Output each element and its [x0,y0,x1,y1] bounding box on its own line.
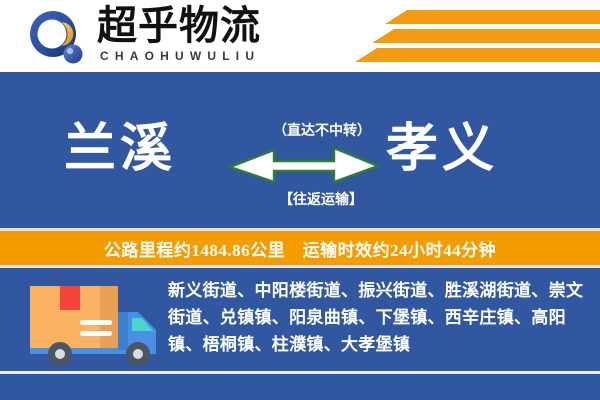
double-headed-arrow-icon [228,144,380,186]
distance-duration-bar: 公路里程约1484.86公里 运输时效约24小时44分钟 [0,228,600,268]
orange-speed-stripe-3-icon [355,48,600,62]
distance-duration-text: 公路里程约1484.86公里 运输时效约24小时44分钟 [104,236,496,261]
coverage-section: 新义街道、中阳楼街道、振兴街道、胜溪湖街道、崇文街道、兑镇镇、阳泉曲镇、下堡镇、… [0,268,600,400]
brand-name-cn: 超乎物流 [97,4,261,48]
orange-speed-stripe-2-icon [372,29,600,43]
coverage-area-text: 新义街道、中阳楼街道、振兴街道、胜溪湖街道、崇文街道、兑镇镇、阳泉曲镇、下堡镇、… [168,277,586,358]
route-note-roundtrip: 【往返运输】 [246,189,396,209]
orange-speed-stripes-icon [385,10,600,24]
circle-q-crescent-logo-icon [28,9,84,65]
brand-name-en: CHAOHUWULIU [100,49,260,63]
road-line-icon [0,371,600,374]
route-note-direct: （直达不中转） [252,120,392,140]
destination-city: 孝义 [386,120,498,180]
brand-header: 超乎物流 CHAOHUWULIU [0,0,600,72]
route-section: 兰溪 （直达不中转） 【往返运输】 孝义 [0,72,600,228]
delivery-truck-icon [22,276,164,372]
origin-city: 兰溪 [64,120,176,180]
logistics-route-banner: 超乎物流 CHAOHUWULIU 兰溪 （直达不中转） 【往返运输】 孝义 公路… [0,0,600,400]
